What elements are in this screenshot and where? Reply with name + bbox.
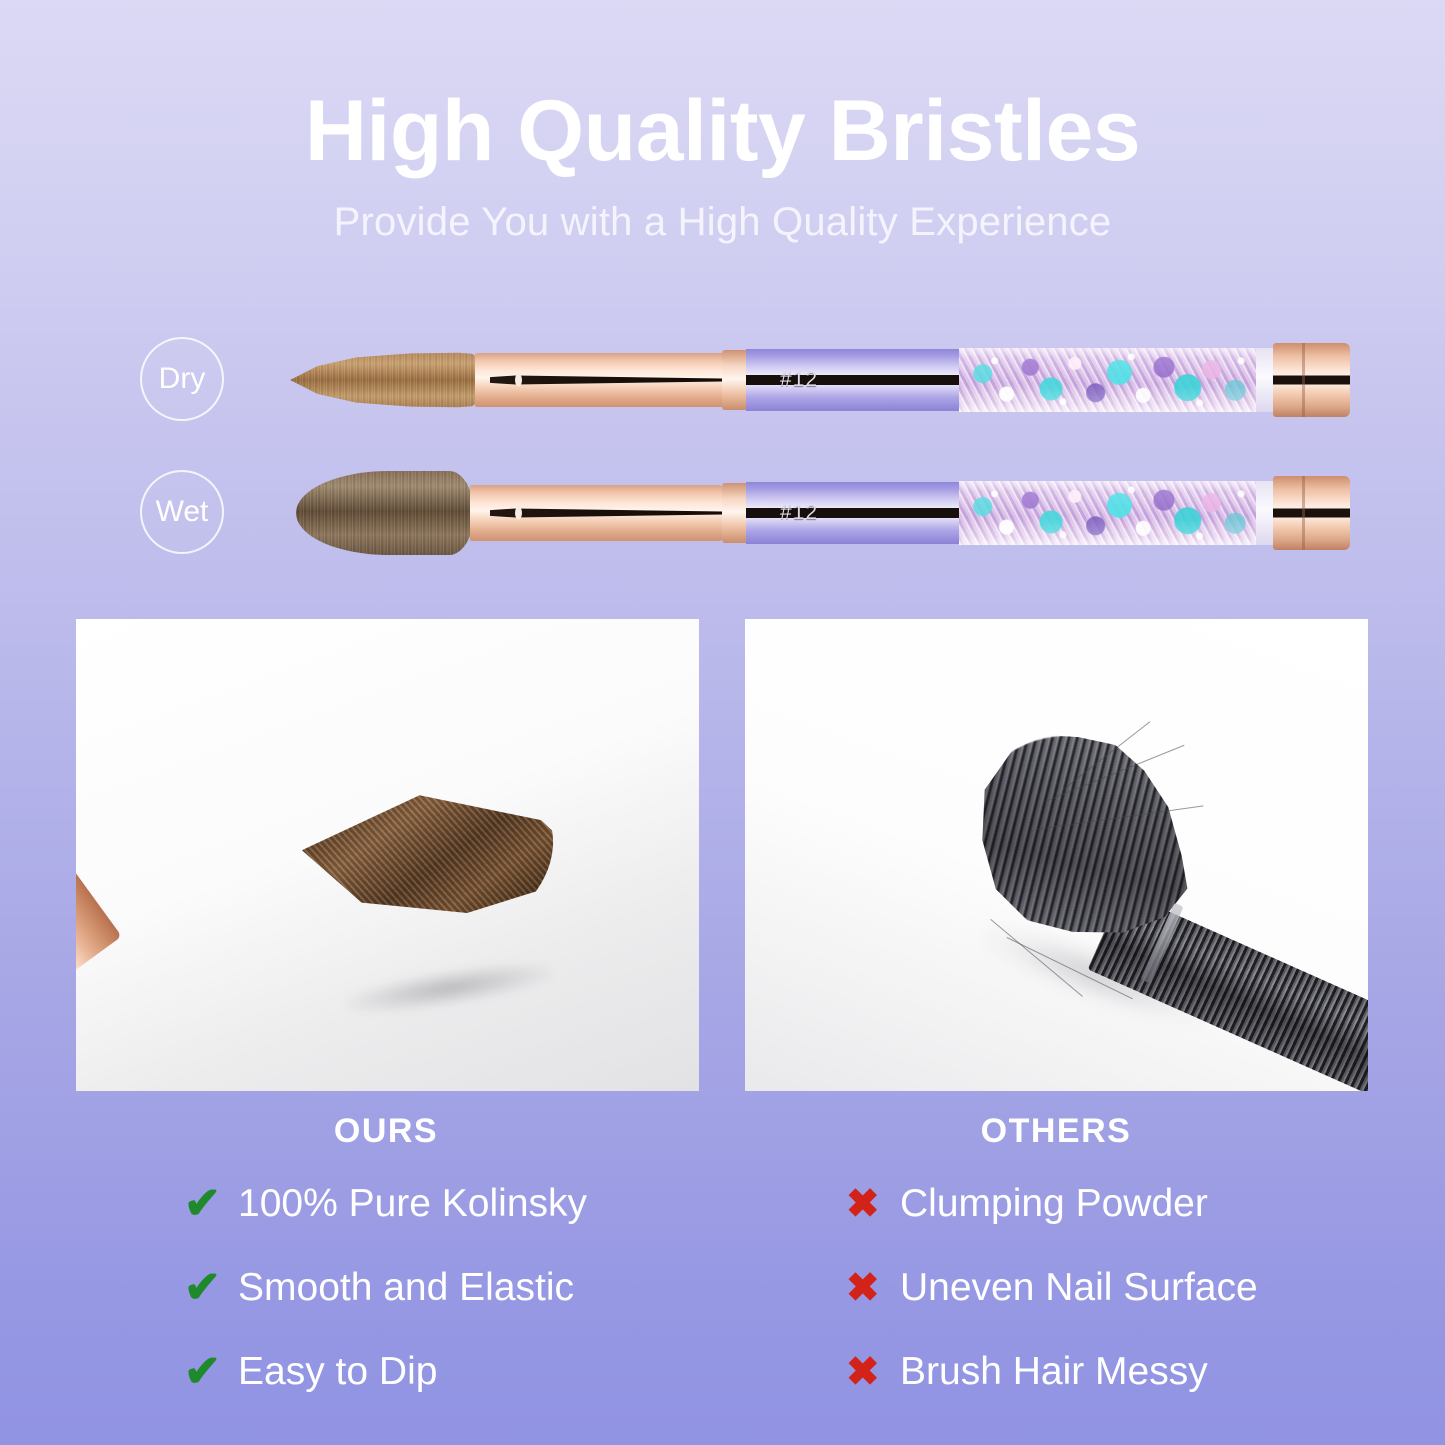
endcap-stripe-wet — [1273, 509, 1350, 518]
list-item: ✖ Uneven Nail Surface — [846, 1257, 1376, 1319]
check-icon: ✔ — [184, 1266, 238, 1310]
page-subtitle: Provide You with a High Quality Experien… — [0, 176, 1445, 245]
handle-stripe-dry — [746, 375, 959, 385]
ferrule-highlight-dot-dry-icon — [515, 374, 522, 387]
brush-size-label-wet: #12 — [780, 501, 818, 525]
check-icon: ✔ — [184, 1350, 238, 1394]
state-badge-wet: Wet — [140, 470, 224, 554]
list-item: ✔ Easy to Dip — [184, 1341, 706, 1403]
cross-icon: ✖ — [846, 1184, 900, 1224]
comparison-column-others: OTHERS ✖ Clumping Powder ✖ Uneven Nail S… — [736, 1112, 1376, 1425]
page-title: High Quality Bristles — [0, 0, 1445, 176]
brush-row-dry: Dry #12 — [0, 310, 1445, 450]
state-badge-wet-label: Wet — [156, 495, 209, 529]
list-item-label: Uneven Nail Surface — [900, 1266, 1258, 1310]
endcap-seam-dry — [1302, 343, 1305, 417]
list-item-label: 100% Pure Kolinsky — [238, 1182, 587, 1226]
product-feature-poster: High Quality Bristles Provide You with a… — [0, 0, 1445, 1445]
comparison-heading-ours: OURS — [66, 1112, 706, 1151]
handle-stripe-wet — [746, 508, 959, 518]
list-item: ✔ Smooth and Elastic — [184, 1257, 706, 1319]
state-badge-dry: Dry — [140, 337, 224, 421]
brush-size-label-dry: #12 — [780, 368, 818, 392]
handle-collar-wet — [722, 483, 748, 543]
list-item: ✔ 100% Pure Kolinsky — [184, 1173, 706, 1235]
ferrule-highlight-dot-wet-icon — [515, 507, 522, 520]
photo-ours — [76, 619, 699, 1091]
photo-others — [745, 619, 1368, 1091]
endcap-stripe-dry — [1273, 376, 1350, 385]
tube-end-clear-dry — [1256, 348, 1273, 412]
list-item: ✖ Clumping Powder — [846, 1173, 1376, 1235]
cross-icon: ✖ — [846, 1352, 900, 1392]
brush-row-wet: Wet #12 — [0, 443, 1445, 583]
glitter-handle-dry — [959, 348, 1256, 412]
list-item-label: Smooth and Elastic — [238, 1266, 574, 1310]
comparison-column-ours: OURS ✔ 100% Pure Kolinsky ✔ Smooth and E… — [66, 1112, 706, 1425]
endcap-seam-wet — [1302, 476, 1305, 550]
cross-icon: ✖ — [846, 1268, 900, 1308]
handle-collar-dry — [722, 350, 748, 410]
list-item: ✖ Brush Hair Messy — [846, 1341, 1376, 1403]
brush-illustration-wet: #12 — [290, 443, 1350, 583]
list-item-label: Easy to Dip — [238, 1350, 437, 1394]
brush-illustration-dry: #12 — [290, 310, 1350, 450]
comparison-list-others: ✖ Clumping Powder ✖ Uneven Nail Surface … — [736, 1173, 1376, 1403]
list-item-label: Brush Hair Messy — [900, 1350, 1208, 1394]
comparison-list-ours: ✔ 100% Pure Kolinsky ✔ Smooth and Elasti… — [66, 1173, 706, 1403]
glitter-handle-wet — [959, 481, 1256, 545]
bristles-dry-icon — [290, 351, 485, 409]
comparison-heading-others: OTHERS — [736, 1112, 1376, 1151]
check-icon: ✔ — [184, 1182, 238, 1226]
list-item-label: Clumping Powder — [900, 1182, 1208, 1226]
poster-header: High Quality Bristles Provide You with a… — [0, 0, 1445, 245]
state-badge-dry-label: Dry — [159, 362, 206, 396]
bristles-wet-icon — [296, 471, 474, 555]
tube-end-clear-wet — [1256, 481, 1273, 545]
